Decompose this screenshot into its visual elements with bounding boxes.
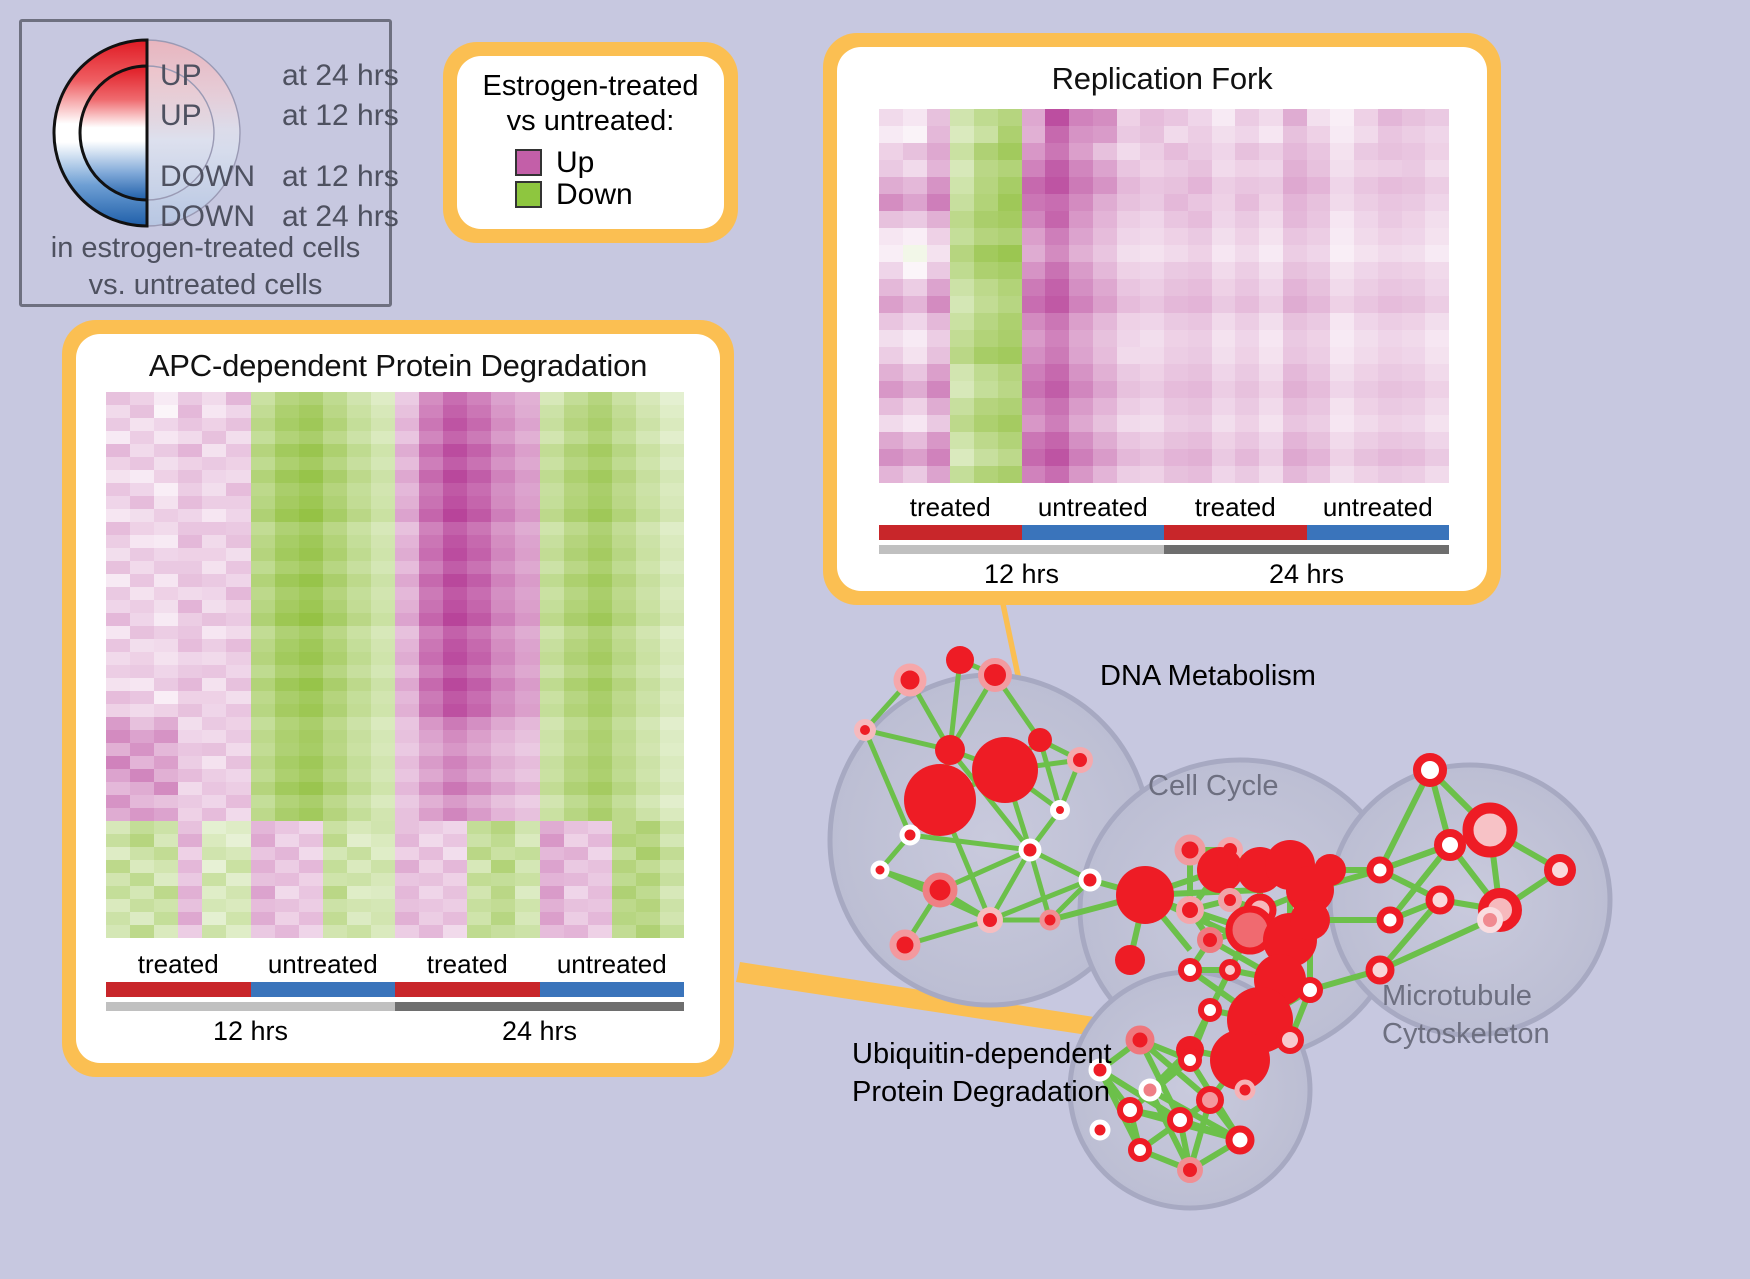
pathway-network-diagram: DNA Metabolism Cell Cycle Microtubule Cy… bbox=[790, 620, 1750, 1279]
apc-group-label-0: treated bbox=[106, 950, 251, 980]
rf-treatment-bar bbox=[879, 525, 1449, 540]
cluster-label-microtubule-line2: Cytoskeleton bbox=[1382, 1018, 1550, 1051]
rf-time-bar bbox=[879, 545, 1449, 554]
estrogen-legend-panel: Estrogen-treated vs untreated: Up Down bbox=[443, 42, 738, 243]
legend-title-line2: vs untreated: bbox=[457, 104, 724, 138]
cluster-label-ubiquitin-line2: Protein Degradation bbox=[852, 1076, 1110, 1109]
key-time-down-24: at 24 hrs bbox=[282, 200, 399, 233]
cluster-label-cell-cycle: Cell Cycle bbox=[1148, 770, 1279, 803]
apc-time-label-12: 12 hrs bbox=[106, 1014, 395, 1049]
key-direction-down-12: DOWN bbox=[160, 160, 282, 194]
cluster-label-microtubule-line1: Microtubule bbox=[1382, 980, 1532, 1013]
key-footer-line1: in estrogen-treated cells bbox=[22, 230, 389, 267]
apc-group-label-1: untreated bbox=[251, 950, 396, 980]
apc-treatment-bar bbox=[106, 982, 684, 997]
replication-fork-heatmap bbox=[879, 109, 1449, 483]
apc-time-labels: 12 hrs 24 hrs bbox=[106, 1014, 684, 1049]
legend-label-down: Down bbox=[556, 180, 633, 210]
legend-title-line1: Estrogen-treated bbox=[457, 69, 724, 103]
key-time-up-12: at 12 hrs bbox=[282, 99, 399, 132]
legend-items: Up Down bbox=[457, 146, 724, 212]
key-direction-up-24: UP bbox=[160, 59, 282, 93]
rf-time-label-12: 12 hrs bbox=[879, 557, 1164, 591]
legend-title: Estrogen-treated vs untreated: bbox=[457, 69, 724, 137]
rf-group-label-0: treated bbox=[879, 493, 1022, 523]
cluster-label-dna-metabolism: DNA Metabolism bbox=[1100, 660, 1316, 693]
apc-time-bar bbox=[106, 1002, 684, 1011]
key-direction-up-12: UP bbox=[160, 99, 282, 133]
rf-time-labels: 12 hrs 24 hrs bbox=[879, 557, 1449, 591]
key-time-up-24: at 24 hrs bbox=[282, 59, 399, 92]
key-time-down-12: at 12 hrs bbox=[282, 160, 399, 193]
apc-degradation-title: APC-dependent Protein Degradation bbox=[76, 334, 720, 384]
apc-degradation-panel: APC-dependent Protein Degradation treate… bbox=[62, 320, 734, 1077]
down-swatch-icon bbox=[515, 181, 542, 208]
replication-fork-title: Replication Fork bbox=[837, 47, 1487, 97]
apc-group-labels: treated untreated treated untreated bbox=[106, 950, 684, 980]
apc-time-label-24: 24 hrs bbox=[395, 1014, 684, 1049]
key-footer-line2: vs. untreated cells bbox=[22, 267, 389, 304]
replication-fork-panel: Replication Fork treated untreated treat… bbox=[823, 33, 1501, 605]
cluster-label-ubiquitin-line1: Ubiquitin-dependent bbox=[852, 1038, 1112, 1071]
key-direction-down-24: DOWN bbox=[160, 200, 282, 234]
apc-degradation-heatmap bbox=[106, 392, 684, 938]
rf-group-label-1: untreated bbox=[1022, 493, 1165, 523]
apc-group-label-2: treated bbox=[395, 950, 540, 980]
up-swatch-icon bbox=[515, 149, 542, 176]
rf-group-label-3: untreated bbox=[1307, 493, 1450, 523]
apc-group-label-3: untreated bbox=[540, 950, 685, 980]
rf-group-label-2: treated bbox=[1164, 493, 1307, 523]
legend-item-up: Up bbox=[515, 148, 724, 178]
key-footer: in estrogen-treated cells vs. untreated … bbox=[22, 230, 389, 304]
legend-label-up: Up bbox=[556, 148, 594, 178]
rf-time-label-24: 24 hrs bbox=[1164, 557, 1449, 591]
network-svg bbox=[790, 620, 1750, 1279]
colorbar-key-box: UPat 24 hrs UPat 12 hrs DOWNat 12 hrs DO… bbox=[19, 19, 392, 307]
legend-item-down: Down bbox=[515, 180, 724, 210]
rf-group-labels: treated untreated treated untreated bbox=[879, 493, 1449, 523]
